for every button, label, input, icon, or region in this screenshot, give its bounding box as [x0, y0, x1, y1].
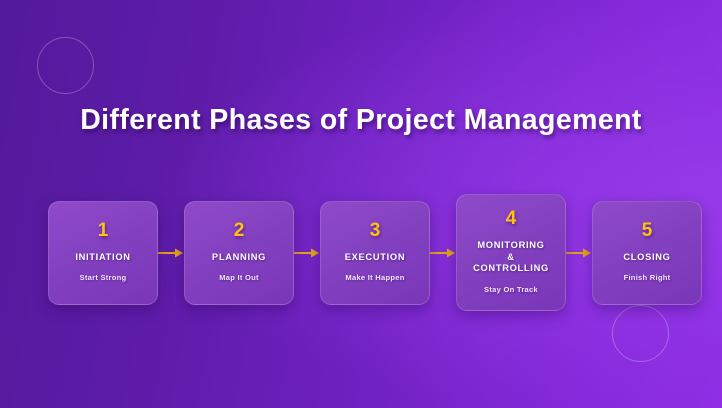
phase-number: 5	[642, 221, 653, 240]
phase-title: PLANNING	[212, 252, 266, 264]
phase-number: 3	[370, 221, 381, 240]
phase-title: EXECUTION	[345, 252, 406, 264]
phase-title: MONITORING & CONTROLLING	[473, 240, 549, 276]
slide-canvas: Different Phases of Project Management 1…	[0, 0, 722, 408]
arrow-3-to-4-icon	[430, 246, 456, 260]
phase-subtitle: Stay On Track	[484, 285, 538, 294]
phase-card-4[interactable]: 4 MONITORING & CONTROLLING Stay On Track	[456, 194, 566, 311]
phase-card-2[interactable]: 2 PLANNING Map It Out	[184, 201, 294, 305]
phase-subtitle: Map It Out	[219, 273, 259, 282]
circle-outline-decoration-top-left	[37, 37, 94, 94]
phase-subtitle: Start Strong	[80, 273, 127, 282]
phase-card-3[interactable]: 3 EXECUTION Make It Happen	[320, 201, 430, 305]
arrow-1-to-2-icon	[158, 246, 184, 260]
phase-number: 1	[98, 221, 109, 240]
phase-subtitle: Finish Right	[624, 273, 671, 282]
phase-card-5[interactable]: 5 CLOSING Finish Right	[592, 201, 702, 305]
arrow-2-to-3-icon	[294, 246, 320, 260]
phase-card-1[interactable]: 1 INITIATION Start Strong	[48, 201, 158, 305]
phases-row: 1 INITIATION Start Strong 2 PLANNING Map…	[48, 190, 676, 315]
phase-title: INITIATION	[75, 252, 130, 264]
phase-subtitle: Make It Happen	[345, 273, 404, 282]
arrow-4-to-5-icon	[566, 246, 592, 260]
phase-title: CLOSING	[623, 252, 670, 264]
page-title: Different Phases of Project Management	[0, 104, 722, 137]
phase-number: 4	[506, 209, 517, 228]
phase-number: 2	[234, 221, 245, 240]
